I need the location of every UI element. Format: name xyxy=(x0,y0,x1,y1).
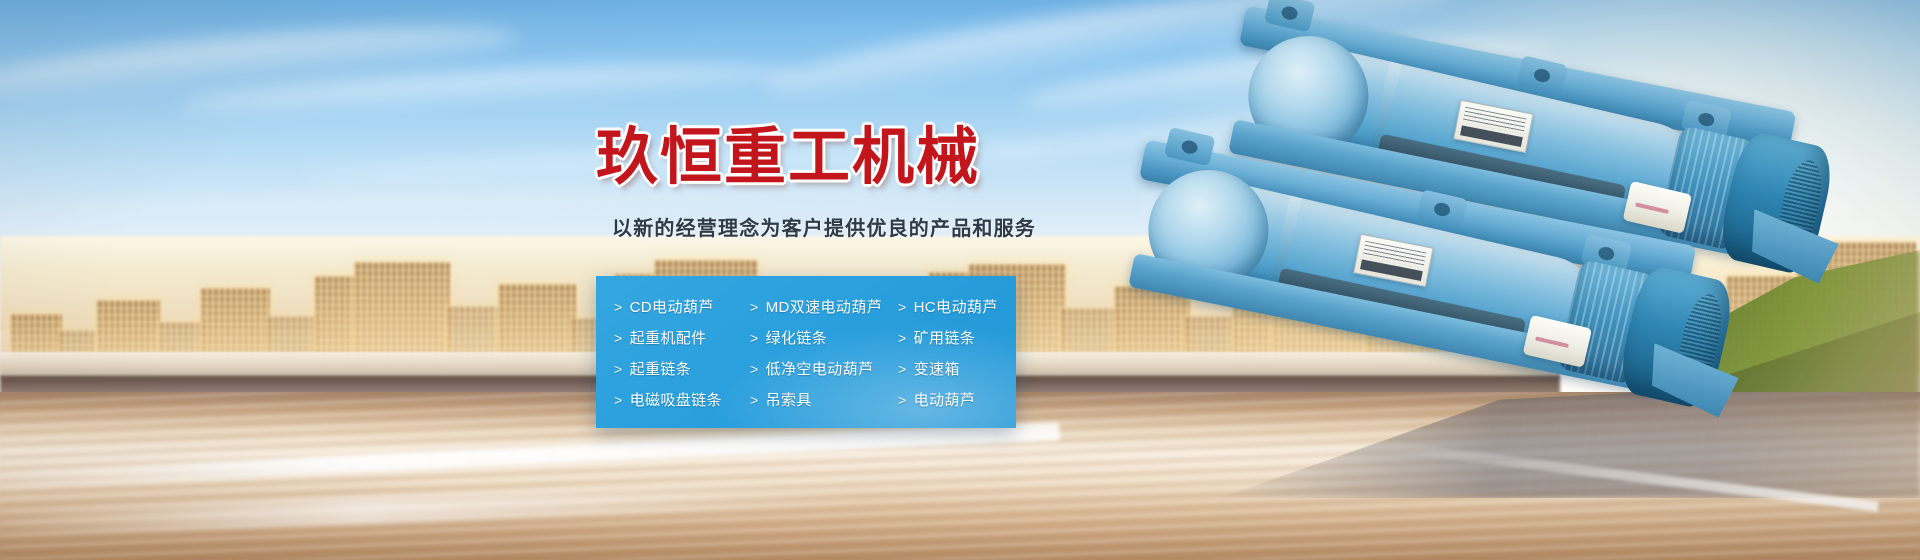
product-link[interactable]: >吊索具 xyxy=(750,393,898,408)
product-link[interactable]: >电磁吸盘链条 xyxy=(614,393,750,408)
banner-subtitle: 以新的经营理念为客户提供优良的产品和服务 xyxy=(612,212,1036,241)
chevron-right-icon: > xyxy=(614,362,623,376)
product-link[interactable]: >电动葫芦 xyxy=(898,393,1002,408)
product-link-label: 变速箱 xyxy=(914,362,960,377)
chevron-right-icon: > xyxy=(750,362,759,376)
product-link-label: 矿用链条 xyxy=(914,331,976,346)
chevron-right-icon: > xyxy=(750,331,759,345)
chevron-right-icon: > xyxy=(614,393,623,407)
chevron-right-icon: > xyxy=(614,331,623,345)
product-link-label: 绿化链条 xyxy=(766,331,828,346)
chevron-right-icon: > xyxy=(898,362,907,376)
product-link-label: 低净空电动葫芦 xyxy=(766,362,874,377)
product-link-label: 起重链条 xyxy=(630,362,692,377)
product-link[interactable]: >矿用链条 xyxy=(898,331,1002,346)
chevron-right-icon: > xyxy=(898,331,907,345)
product-link-label: 电磁吸盘链条 xyxy=(630,393,722,408)
product-link[interactable]: >起重链条 xyxy=(614,362,750,377)
product-link-label: HC电动葫芦 xyxy=(914,300,998,315)
product-links-panel: >CD电动葫芦>MD双速电动葫芦>HC电动葫芦>起重机配件>绿化链条>矿用链条>… xyxy=(596,276,1016,428)
product-link[interactable]: >绿化链条 xyxy=(750,331,898,346)
page-title: 玖恒重工机械 xyxy=(596,126,1036,190)
product-link-label: MD双速电动葫芦 xyxy=(766,300,883,315)
chevron-right-icon: > xyxy=(898,393,907,407)
chevron-right-icon: > xyxy=(750,393,759,407)
product-link-label: 起重机配件 xyxy=(630,331,707,346)
product-link[interactable]: >CD电动葫芦 xyxy=(614,300,750,315)
chevron-right-icon: > xyxy=(614,300,623,314)
hero-banner: 玖恒重工机械 以新的经营理念为客户提供优良的产品和服务 >CD电动葫芦>MD双速… xyxy=(0,0,1920,560)
chevron-right-icon: > xyxy=(750,300,759,314)
product-link[interactable]: >起重机配件 xyxy=(614,331,750,346)
product-link[interactable]: >HC电动葫芦 xyxy=(898,300,1002,315)
product-link-label: CD电动葫芦 xyxy=(630,300,714,315)
chevron-right-icon: > xyxy=(898,300,907,314)
product-link[interactable]: >低净空电动葫芦 xyxy=(750,362,898,377)
product-link[interactable]: >MD双速电动葫芦 xyxy=(750,300,898,315)
banner-copy: 玖恒重工机械 以新的经营理念为客户提供优良的产品和服务 xyxy=(596,126,1036,241)
product-link[interactable]: >变速箱 xyxy=(898,362,1002,377)
product-link-label: 吊索具 xyxy=(766,393,812,408)
product-link-label: 电动葫芦 xyxy=(914,393,976,408)
